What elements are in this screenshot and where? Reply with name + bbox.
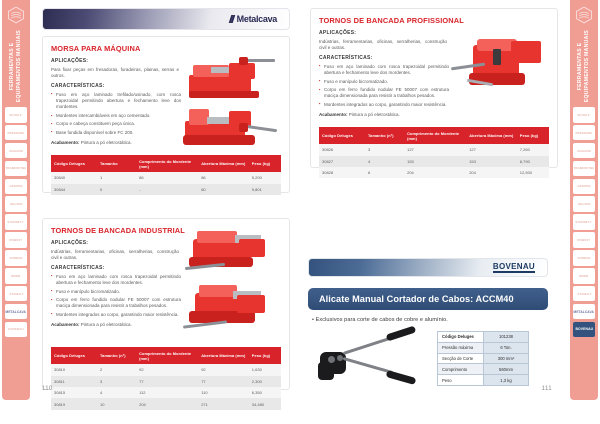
left-rail-section-title-text: FERRAMENTAS E EQUIPAMENTOS MANUAIS — [9, 30, 23, 102]
finish-label: Acabamento: — [51, 140, 80, 145]
hexagon-wave-icon — [575, 6, 593, 24]
rail-tab-label: STANLEY — [577, 292, 591, 296]
column-header: Peso (kg) — [249, 155, 281, 172]
rail-tab[interactable]: STARRETT — [5, 214, 27, 230]
column-header: Peso (kg) — [517, 127, 549, 144]
cell: 2,300 — [249, 376, 281, 387]
rail-tab[interactable]: STANLEY — [5, 286, 27, 302]
rail-tab-label: TRAMONTINA — [6, 167, 27, 171]
rail-tab[interactable]: IRWIN — [573, 268, 595, 284]
cell: 127 — [466, 144, 517, 155]
cell: 92 — [136, 364, 198, 375]
table-row: 30810 2 92 92 1,630 — [51, 364, 281, 375]
column-header: Tamanho — [97, 155, 136, 172]
metalcava-logo: Metalcava — [230, 14, 278, 24]
rail-tab[interactable]: BOVENAU — [5, 322, 27, 338]
cell: 127 — [404, 144, 466, 155]
table-header-row: Código Deluges Tamanho Comprimento do Mo… — [51, 155, 281, 172]
spec-key: Pressão máxima — [438, 342, 484, 353]
cell: 204 — [466, 167, 517, 178]
rail-tab[interactable]: ROBUST — [5, 232, 27, 248]
table-row: 30815 4 112 110 6,350 — [51, 387, 281, 398]
rail-tab[interactable]: BELZER — [5, 196, 27, 212]
bovenau-masthead: BOVENAU — [308, 258, 548, 277]
rail-tab-label: VONDER — [577, 256, 590, 260]
right-side-rail: FERRAMENTAS E EQUIPAMENTOS MANUAIS SCHUL… — [570, 0, 598, 400]
spec-key: Comprimento — [438, 364, 484, 375]
rail-tab-label: ROBUST — [577, 238, 590, 242]
cell: - — [136, 184, 198, 195]
cell: 30819 — [51, 398, 97, 409]
cell: 6 — [365, 167, 404, 178]
rail-tab[interactable]: TRAMONTINA — [5, 161, 27, 177]
cell: 153 — [466, 156, 517, 167]
rail-tab-label: IRWIN — [579, 274, 588, 278]
spec-value: 560mm — [484, 364, 529, 375]
cell: 77 — [136, 376, 198, 387]
rail-tab-label: IRWIN — [11, 274, 20, 278]
cell: 4 — [365, 156, 404, 167]
cell: 1 — [97, 172, 136, 183]
aplicacoes-text: Indústrias, ferramentarias, oficinas, se… — [51, 249, 179, 262]
rail-tab[interactable]: VONDER — [573, 250, 595, 266]
table-header-row: Código Deluges Tamanho (nº) Comprimento … — [319, 127, 549, 144]
feature-item: Mordentes intercambiáveis em aço cementa… — [51, 113, 181, 119]
catalog-spread: FERRAMENTAS E EQUIPAMENTOS MANUAIS SCHUL… — [0, 0, 600, 424]
spec-value: 101238 — [484, 332, 529, 343]
cell: 30840 — [51, 172, 97, 183]
right-rail-section-title-text: FERRAMENTAS E EQUIPAMENTOS MANUAIS — [577, 30, 591, 102]
table-row: 30844 0 - 60 9,801 — [51, 184, 281, 195]
aplicacoes-text: Indústrias, ferramentarias, oficinas, se… — [319, 39, 447, 52]
left-rail-section-title: FERRAMENTAS E EQUIPAMENTOS MANUAIS — [3, 28, 29, 104]
column-header: Abertura Máxima (mm) — [466, 127, 517, 144]
rail-tab[interactable]: PRESSURE — [573, 125, 595, 141]
finish-text: Pintura a pó eletrostática. — [80, 322, 132, 327]
product-photo-machine-vise-top — [181, 53, 279, 103]
rail-tab-label: SCHULZ — [10, 113, 22, 117]
rail-tab[interactable]: VONDER — [5, 250, 27, 266]
bovenau-bullet-text: Exclusivos para corte de cabos de cobre … — [312, 317, 448, 323]
cell: 12,500 — [517, 167, 549, 178]
rail-tab-label: VONDER — [9, 256, 22, 260]
column-header: Peso (kg) — [249, 347, 281, 364]
bovenau-section: BOVENAU Alicate Manual Cortador de Cabos… — [300, 200, 568, 400]
aplicacoes-text: Para fixar peças em fresadoras, furadeir… — [51, 67, 179, 80]
cell: 30811 — [51, 376, 97, 387]
column-header: Abertura Máxima (mm) — [198, 155, 249, 172]
table-row: 30828 6 204 204 12,500 — [319, 167, 549, 178]
left-side-rail: FERRAMENTAS E EQUIPAMENTOS MANUAIS SCHUL… — [2, 0, 30, 400]
spec-key: Secção de Corte — [438, 353, 484, 364]
feature-item: Fuso em aço laminado com rosca trapezoid… — [51, 274, 181, 287]
rail-tab[interactable]: STARRETT — [573, 214, 595, 230]
rail-tab-label: NAGANO — [577, 149, 591, 153]
finish-text: Pintura a pó eletrostática. — [80, 140, 132, 145]
rail-tab-label: BELZER — [10, 202, 22, 206]
cell: 34,480 — [249, 398, 281, 409]
cell: 30828 — [319, 167, 365, 178]
rail-tab-label: METALCAVA — [6, 310, 26, 314]
rail-tab-label: BOVENAU — [575, 328, 593, 332]
table-header-row: Código Deluges Tamanho (nº) Comprimento … — [51, 347, 281, 364]
spec-table-profissional: Código Deluges Tamanho (nº) Comprimento … — [319, 127, 549, 178]
page-number-left: 110 — [42, 386, 53, 392]
column-header: Comprimento do Mordente (mm) — [136, 155, 198, 172]
table-row: Código Deluges 101238 — [438, 332, 529, 343]
cell: 271 — [198, 398, 249, 409]
rail-tab-metalcava[interactable]: METALCAVA — [573, 304, 595, 320]
rail-tab[interactable]: STANLEY — [573, 286, 595, 302]
rail-tab[interactable]: BELZER — [573, 196, 595, 212]
rail-tab[interactable]: TRAMONTINA — [573, 161, 595, 177]
rail-tab[interactable]: GEDORE — [5, 179, 27, 195]
cell: 30815 — [51, 387, 97, 398]
right-rail-tab-list: SCHULZ PRESSURE NAGANO TRAMONTINA GEDORE… — [570, 107, 598, 337]
cell: 10 — [97, 398, 136, 409]
cell: 30844 — [51, 184, 97, 195]
column-header: Código Deluges — [319, 127, 365, 144]
finish-label: Acabamento: — [51, 322, 80, 327]
feature-item: Fuso em aço laminado trefilado/usinado, … — [51, 92, 181, 111]
cell: 86 — [136, 172, 198, 183]
spec-value: 300 mm² — [484, 353, 529, 364]
left-rail-tab-list: SCHULZ PRESSURE NAGANO TRAMONTINA GEDORE… — [2, 107, 30, 337]
spec-key: Peso — [438, 375, 484, 386]
right-rail-section-title: FERRAMENTAS E EQUIPAMENTOS MANUAIS — [571, 28, 597, 104]
cell: 60 — [198, 184, 249, 195]
rail-tab-label: TRAMONTINA — [574, 167, 595, 171]
rail-tab-label: METALCAVA — [574, 310, 594, 314]
product-photo-bench-vise-angle — [181, 279, 281, 339]
table-row: Pressão máxima 6 Ton. — [438, 342, 529, 353]
cell: 8,790 — [517, 156, 549, 167]
spec-value: 6 Ton. — [484, 342, 529, 353]
spec-table-morsa: Código Deluges Tamanho Comprimento do Mo… — [51, 155, 281, 195]
table-row: Comprimento 560mm — [438, 364, 529, 375]
rail-tab-label: BELZER — [578, 202, 590, 206]
cell: 9,801 — [249, 184, 281, 195]
rail-tab[interactable]: GEDORE — [573, 179, 595, 195]
cell: 2 — [97, 364, 136, 375]
metalcava-slash-mark-icon — [230, 15, 235, 23]
cell: 1,630 — [249, 364, 281, 375]
page-number-right: 111 — [542, 386, 552, 392]
cell: 110 — [198, 387, 249, 398]
bovenau-product-title: Alicate Manual Cortador de Cabos: ACCM40 — [319, 294, 514, 304]
cell: 153 — [404, 156, 466, 167]
rail-tab[interactable]: SCHULZ — [573, 107, 595, 123]
cell: 86 — [198, 172, 249, 183]
feature-item: Fuso em aço laminado com rosca trapezoid… — [319, 64, 449, 77]
finish-line: Acabamento: Pintura a pó eletrostática. — [51, 322, 183, 328]
bovenau-wordmark: BOVENAU — [493, 262, 535, 274]
rail-tab-label: PRESSURE — [8, 131, 25, 135]
metalcava-masthead: Metalcava — [42, 8, 290, 30]
rail-tab[interactable]: NAGANO — [5, 143, 27, 159]
rail-tab-label: STARRETT — [8, 220, 24, 224]
product-card-morsa-para-maquina: MORSA PARA MÁQUINA APLICAÇÕES: Para fixa… — [42, 36, 290, 193]
bovenau-product-titlebar: Alicate Manual Cortador de Cabos: ACCM40 — [308, 288, 548, 310]
feature-list: Fuso em aço laminado com rosca trapezoid… — [51, 274, 181, 318]
feature-item: Mordentes integrados ao corpo, garantind… — [319, 102, 449, 108]
rail-tab-metalcava[interactable]: METALCAVA — [5, 304, 27, 320]
rail-tab[interactable]: PRESSURE — [5, 125, 27, 141]
product-photo-bench-vise-top — [181, 225, 281, 281]
cell: 30826 — [319, 144, 365, 155]
right-page: TORNOS DE BANCADA PROFISSIONAL APLICAÇÕE… — [300, 0, 568, 400]
spec-value: 1,3 kg — [484, 375, 529, 386]
finish-line: Acabamento: Pintura a pó eletrostática. — [51, 140, 183, 146]
rail-tab[interactable]: ROBUST — [573, 232, 595, 248]
cell: 204 — [136, 398, 198, 409]
cell: 6,350 — [249, 387, 281, 398]
column-header: Abertura Máxima (mm) — [198, 347, 249, 364]
product-title: TORNOS DE BANCADA PROFISSIONAL — [319, 16, 549, 25]
cell: 77 — [198, 376, 249, 387]
column-header: Comprimento do Mordente (mm) — [136, 347, 198, 364]
rail-tab-label: BOVENAU — [8, 328, 23, 332]
cell: 4 — [97, 387, 136, 398]
table-row: 30826 3 127 127 7,260 — [319, 144, 549, 155]
feature-list: Fuso em aço laminado trefilado/usinado, … — [51, 92, 181, 136]
left-page: Metalcava MORSA PARA MÁQUINA APLICAÇÕES:… — [32, 0, 300, 400]
spec-table-industrial: Código Deluges Tamanho (nº) Comprimento … — [51, 347, 281, 410]
rail-tab-label: SCHULZ — [578, 113, 590, 117]
feature-item: Fuso e manípulo bicromatizado. — [319, 79, 449, 85]
feature-list: Fuso em aço laminado com rosca trapezoid… — [319, 64, 449, 108]
cell: 0 — [97, 184, 136, 195]
rail-tab-label: STANLEY — [9, 292, 23, 296]
feature-item: Corpo e cabeça constituem peça única. — [51, 121, 181, 127]
table-row: Secção de Corte 300 mm² — [438, 353, 529, 364]
rail-tab[interactable]: NAGANO — [573, 143, 595, 159]
column-header: Tamanho (nº) — [97, 347, 136, 364]
finish-line: Acabamento: Pintura a pó eletrostática. — [319, 112, 451, 118]
hexagon-wave-icon — [7, 6, 25, 24]
finish-text: Pintura a pó eletrostática. — [348, 112, 400, 117]
rail-tab-bovenau[interactable]: BOVENAU — [573, 322, 595, 338]
table-row: 30811 3 77 77 2,300 — [51, 376, 281, 387]
cell: 30827 — [319, 156, 365, 167]
spec-key: Código Deluges — [438, 332, 484, 343]
product-card-tornos-profissional: TORNOS DE BANCADA PROFISSIONAL APLICAÇÕE… — [310, 8, 558, 168]
feature-item: Mordentes integrados ao corpo, garantind… — [51, 312, 181, 318]
table-row: 30827 4 153 153 8,790 — [319, 156, 549, 167]
rail-tab-label: GEDORE — [577, 184, 590, 188]
product-photo-machine-vise-angle — [179, 99, 281, 157]
metalcava-wordmark: Metalcava — [237, 14, 277, 24]
column-header: Comprimento do Mordente (mm) — [404, 127, 466, 144]
product-card-tornos-industrial: TORNOS DE BANCADA INDUSTRIAL APLICAÇÕES:… — [42, 218, 290, 390]
bovenau-spec-table: Código Deluges 101238 Pressão máxima 6 T… — [437, 331, 529, 386]
cell: 3 — [365, 144, 404, 155]
feature-item: Fuso e manípulo bicromatizado. — [51, 289, 181, 295]
rail-tab-label: NAGANO — [9, 149, 23, 153]
rail-tab[interactable]: SCHULZ — [5, 107, 27, 123]
product-photo-professional-vise — [447, 31, 549, 97]
cell: 7,260 — [517, 144, 549, 155]
cell: 5,200 — [249, 172, 281, 183]
cell: 204 — [404, 167, 466, 178]
feature-item: Corpo em ferro fundido nodular FE 50007 … — [319, 87, 449, 100]
table-row: 30840 1 86 86 5,200 — [51, 172, 281, 183]
feature-item: Corpo em ferro fundido nodular FE 50007 … — [51, 297, 181, 310]
cell: 112 — [136, 387, 198, 398]
cell: 92 — [198, 364, 249, 375]
finish-label: Acabamento: — [319, 112, 348, 117]
column-header: Código Deluges — [51, 347, 97, 364]
cell: 30810 — [51, 364, 97, 375]
rail-tab[interactable]: IRWIN — [5, 268, 27, 284]
table-row: Peso 1,3 kg — [438, 375, 529, 386]
column-header: Tamanho (nº) — [365, 127, 404, 144]
column-header: Código Deluges — [51, 155, 97, 172]
rail-tab-label: STARRETT — [576, 220, 592, 224]
rail-tab-label: ROBUST — [9, 238, 22, 242]
rail-tab-label: PRESSURE — [576, 131, 593, 135]
cell: 3 — [97, 376, 136, 387]
product-title: MORSA PARA MÁQUINA — [51, 44, 281, 53]
table-row: 30819 10 204 271 34,480 — [51, 398, 281, 409]
rail-tab-label: GEDORE — [9, 184, 22, 188]
feature-item: Base fundida disponível sobre FC 200. — [51, 130, 181, 136]
product-photo-cable-cutter — [318, 328, 436, 390]
